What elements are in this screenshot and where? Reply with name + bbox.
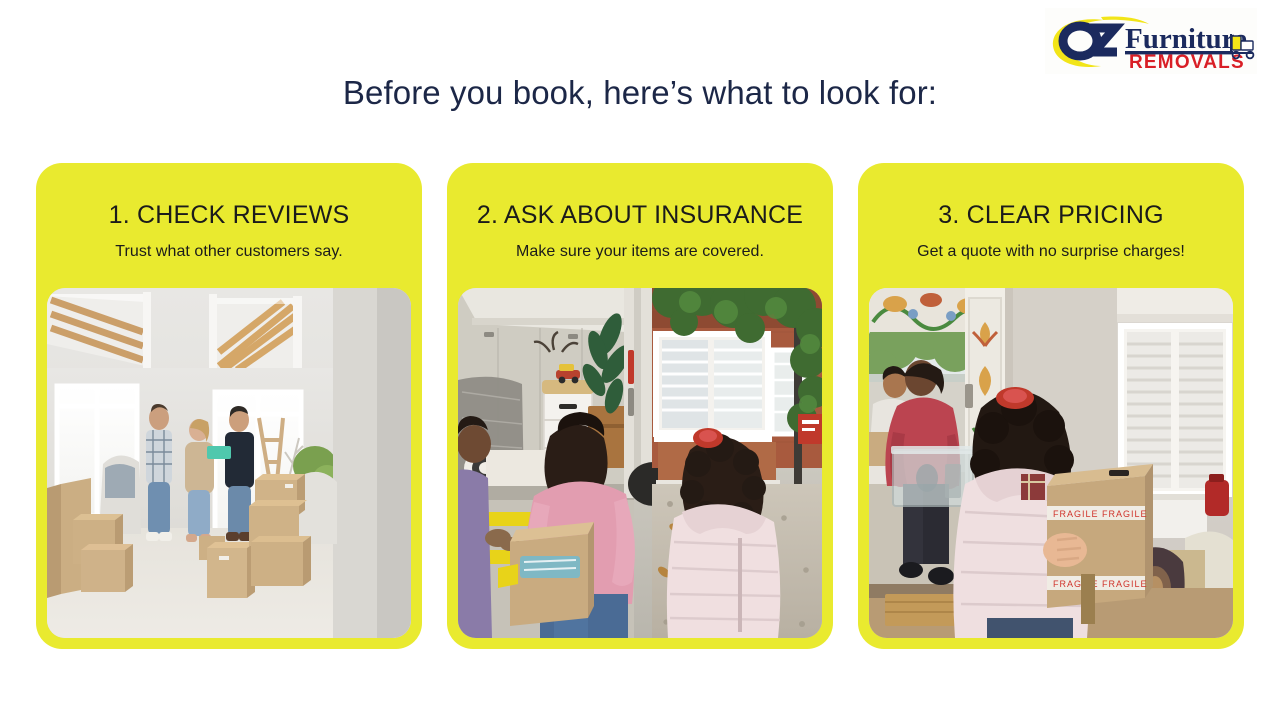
oz-furniture-removals-logo[interactable]: Furniture REMOVALS [1045,8,1257,74]
svg-text:Furniture: Furniture [1125,23,1247,55]
tip-card-clear-pricing[interactable]: 3. CLEAR PRICING Get a quote with no sur… [858,163,1244,649]
tip-card-check-reviews[interactable]: 1. CHECK REVIEWS Trust what other custom… [36,163,422,649]
logo-graphic: Furniture REMOVALS [1045,8,1257,74]
photo-check-reviews [47,288,411,638]
tip-card-ask-about-insurance[interactable]: 2. ASK ABOUT INSURANCE Make sure your it… [447,163,833,649]
tip-card-subtitle: Make sure your items are covered. [516,243,764,261]
photo-ask-about-insurance: ⚠ [458,288,822,638]
tip-card-title: 3. CLEAR PRICING [938,202,1163,230]
svg-text:REMOVALS: REMOVALS [1129,52,1245,73]
photo-ask-about-insurance-graphic: ⚠ [458,288,822,638]
tip-card-subtitle: Get a quote with no surprise charges! [917,243,1185,261]
svg-text:FRAGILE FRAGILE: FRAGILE FRAGILE [1053,509,1148,519]
tip-card-title: 1. CHECK REVIEWS [109,202,350,230]
tips-card-row: 1. CHECK REVIEWS Trust what other custom… [36,163,1244,649]
tip-card-title: 2. ASK ABOUT INSURANCE [477,202,803,230]
photo-clear-pricing: FRAGILE FRAGILE FRAGILE FRAGILE [869,288,1233,638]
photo-check-reviews-graphic [47,288,411,638]
page-title: Before you book, here’s what to look for… [0,74,1280,112]
photo-clear-pricing-graphic: FRAGILE FRAGILE FRAGILE FRAGILE [869,288,1233,638]
svg-text:FRAGILE FRAGILE: FRAGILE FRAGILE [1053,579,1148,589]
tip-card-subtitle: Trust what other customers say. [115,243,342,261]
